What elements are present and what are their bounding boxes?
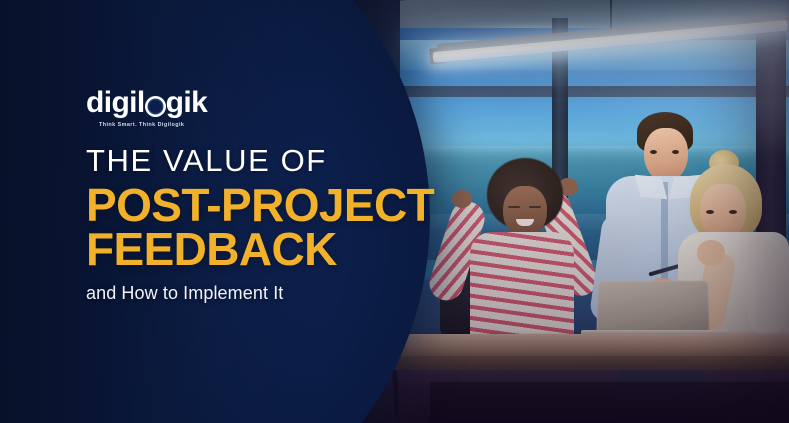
- headline-subtitle: and How to Implement It: [86, 284, 546, 304]
- banner-content: digil gik Think Smart. Think Digilogik T…: [86, 88, 546, 304]
- logo-circle-icon: [145, 96, 166, 117]
- logo-text-last: gik: [166, 88, 208, 118]
- headline-title-line-2: FEEDBACK: [86, 227, 546, 271]
- eye: [650, 150, 657, 154]
- eye: [706, 210, 714, 214]
- eye: [729, 210, 737, 214]
- brand-tagline: Think Smart. Think Digilogik: [99, 122, 546, 128]
- floor-shadow: [430, 382, 789, 423]
- logo-text-first: digil: [86, 88, 145, 118]
- headline-eyebrow: THE VALUE OF: [86, 145, 546, 178]
- marketing-banner: digil gik Think Smart. Think Digilogik T…: [0, 0, 789, 423]
- hand: [697, 240, 725, 266]
- logo-wordmark: digil gik: [86, 88, 546, 118]
- headline-title: POST-PROJECT FEEDBACK: [86, 183, 546, 271]
- eye: [672, 150, 679, 154]
- brand-logo[interactable]: digil gik Think Smart. Think Digilogik: [86, 88, 546, 134]
- face: [644, 128, 688, 182]
